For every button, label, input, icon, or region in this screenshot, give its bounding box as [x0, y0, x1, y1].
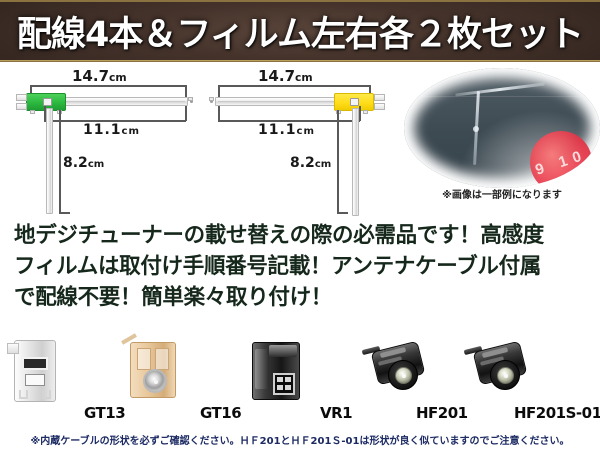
gt13-housing: [14, 340, 56, 402]
vr1-housing: [252, 342, 300, 400]
vr1-side-rail: [255, 349, 269, 389]
left-connector-chip: [43, 98, 52, 106]
hf201-center-pin: [395, 367, 412, 384]
gt13-leg-right: [42, 390, 51, 399]
left-connector-tab-lower: [16, 103, 27, 110]
right-dim-mid-unit: cm: [297, 126, 315, 137]
left-dim-vert-label: 8.2cm: [63, 155, 104, 171]
gt16-coax-ring: [143, 369, 167, 393]
right-bar-end-foot: [209, 97, 214, 101]
header-banner: 配線4本＆フィルム左右各２枚セット: [0, 0, 600, 62]
hf201-housing: [368, 344, 424, 396]
left-dim-vert-bracket-b: [59, 212, 70, 214]
right-antenna-stem: [352, 108, 359, 216]
vr1-pin-3: [277, 385, 283, 390]
right-dim-mid-bracket-l: [218, 106, 220, 121]
left-connector-foot-a: [30, 110, 35, 114]
description-line-2: フィルムは取付け手順番号記載！アンテナケーブル付属: [14, 251, 594, 282]
left-dim-top-bracket-h: [30, 85, 186, 87]
right-dim-vert-bracket-b: [337, 212, 348, 214]
right-dim-mid-label: 11.1cm: [258, 122, 315, 138]
gt16-slot-right: [155, 348, 169, 370]
gt13-window-main: [22, 357, 48, 370]
header-title: 配線4本＆フィルム左右各２枚セット: [17, 6, 583, 57]
gt13-window-secondary: [25, 374, 45, 386]
left-dim-top-unit: cm: [109, 71, 127, 84]
right-dim-vert-unit: cm: [315, 159, 331, 170]
right-dim-vert-label: 8.2cm: [290, 155, 331, 171]
right-dim-vert-value: 8.2: [290, 155, 315, 171]
hf201s01-center-pin: [497, 367, 514, 384]
connector-item-hf201s01: HF201S-01: [470, 330, 598, 425]
red-number-sticker: 9 10: [522, 123, 600, 188]
gt13-leg-left: [19, 390, 28, 399]
gt13-label: GT13: [84, 404, 125, 422]
right-connector-foot-b: [363, 110, 368, 114]
vr1-pin-1: [277, 377, 283, 382]
hf201s01-label: HF201S-01: [514, 404, 600, 422]
hf201-label: HF201: [416, 404, 468, 422]
vr1-connector-image: [250, 330, 308, 410]
right-dim-top-unit: cm: [295, 71, 313, 84]
left-dim-vert-bracket-v: [59, 110, 61, 214]
film-antenna-horizontal-element: [455, 83, 545, 97]
hf201s01-housing: [470, 344, 526, 396]
left-connector-tab-upper: [16, 94, 27, 101]
left-dim-mid-label: 11.1cm: [83, 122, 140, 138]
photo-caption: ※画像は一部例になります: [404, 186, 600, 201]
windshield-photo: 9 10: [404, 68, 600, 188]
film-antenna-node: [473, 126, 479, 132]
left-dim-top-label: 14.7cm: [72, 67, 127, 85]
gt16-slot-left: [137, 348, 151, 370]
description-block: 地デジチューナーの載せ替えの際の必需品です！高感度 フィルムは取付け手順番号記載…: [14, 220, 594, 313]
footer-note: ※内蔵ケーブルの形状を必ずご確認ください。ＨＦ201とＨＦ201Ｓ-01は形状が…: [0, 432, 600, 447]
left-bar-end-foot: [188, 97, 193, 101]
product-image: 配線4本＆フィルム左右各２枚セット 14.7cm: [0, 0, 600, 450]
vr1-pin-4: [285, 385, 291, 390]
left-antenna-stem: [46, 108, 53, 214]
left-dim-mid-value: 11.1: [83, 122, 122, 138]
connector-types-row: GT13 GT16: [0, 330, 600, 425]
right-connector-tab-lower: [374, 103, 385, 110]
connector-item-gt16: GT16: [130, 330, 248, 425]
right-dim-vert-bracket-v: [337, 110, 339, 214]
gt13-connector-image: [8, 330, 68, 410]
left-dim-vert-unit: cm: [88, 159, 104, 170]
hf201s01-connector-image: [470, 330, 532, 410]
left-dim-vert-value: 8.2: [63, 155, 88, 171]
gt16-connector-image: [130, 330, 188, 410]
right-dim-top-value: 14.7: [258, 67, 295, 85]
right-dim-top-label: 14.7cm: [258, 67, 313, 85]
hf201-connector-image: [368, 330, 430, 410]
vr1-pin-2: [285, 377, 291, 382]
photo-inset: 9 10 ※画像は一部例になります: [404, 68, 600, 196]
connector-item-gt13: GT13: [8, 330, 128, 425]
left-dim-top-value: 14.7: [72, 67, 109, 85]
right-connector-chip: [350, 98, 359, 106]
description-line-3: で配線不要！簡単楽々取り付け！: [14, 282, 594, 313]
right-connector-tab-upper: [374, 94, 385, 101]
right-dim-mid-value: 11.1: [258, 122, 297, 138]
vr1-top-shell: [269, 345, 297, 357]
gt16-label: GT16: [200, 404, 241, 422]
gt16-housing: [130, 342, 176, 398]
left-dim-mid-unit: cm: [122, 126, 140, 137]
right-dim-top-bracket-h: [218, 85, 370, 87]
left-dim-mid-bracket-r: [185, 106, 187, 121]
right-dim-mid-bracket-r: [359, 106, 361, 121]
gt13-tail: [7, 343, 19, 354]
vr1-label: VR1: [320, 404, 352, 422]
vr1-pin-face: [273, 373, 295, 395]
connector-item-vr1: VR1: [250, 330, 366, 425]
connector-item-hf201: HF201: [368, 330, 480, 425]
description-line-1: 地デジチューナーの載せ替えの際の必需品です！高感度: [14, 220, 594, 251]
